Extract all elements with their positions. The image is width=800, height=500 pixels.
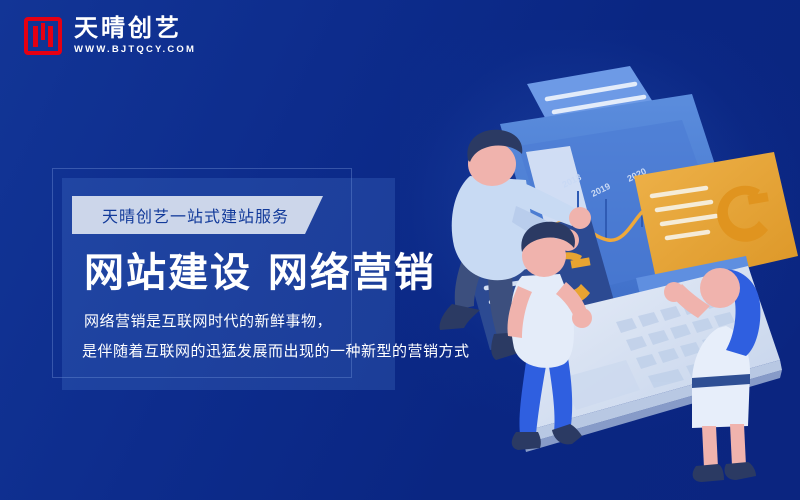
tagline-banner: 天晴创艺一站式建站服务 bbox=[72, 196, 323, 234]
logo-bar-right-shape bbox=[48, 26, 53, 47]
logo-company-name: 天晴创艺 bbox=[74, 16, 196, 41]
logo-website-url: WWW.BJTQCY.COM bbox=[74, 44, 196, 55]
logo-bar-left-shape bbox=[33, 26, 38, 47]
promo-banner: 天晴创艺 WWW.BJTQCY.COM 天晴创艺一站式建站服务 网站建设 网络营… bbox=[0, 0, 800, 500]
logo-bar-middle-shape bbox=[41, 23, 45, 40]
hero-description-line-1: 网络营销是互联网时代的新鲜事物， bbox=[84, 306, 470, 336]
page-title: 网站建设 网络营销 bbox=[84, 240, 436, 298]
hero-illustration: 2018 2019 2020 2021 bbox=[430, 60, 800, 500]
logo-text-block: 天晴创艺 WWW.BJTQCY.COM bbox=[74, 16, 196, 55]
hero-description: 网络营销是互联网时代的新鲜事物， 是伴随着互联网的迅猛发展而出现的一种新型的营销… bbox=[84, 306, 470, 366]
brand-logo[interactable]: 天晴创艺 WWW.BJTQCY.COM bbox=[24, 16, 196, 55]
logo-square-mark-icon bbox=[24, 17, 62, 55]
hero-description-line-2: 是伴随着互联网的迅猛发展而出现的一种新型的营销方式 bbox=[82, 336, 470, 366]
tagline-text: 天晴创艺一站式建站服务 bbox=[102, 203, 289, 227]
